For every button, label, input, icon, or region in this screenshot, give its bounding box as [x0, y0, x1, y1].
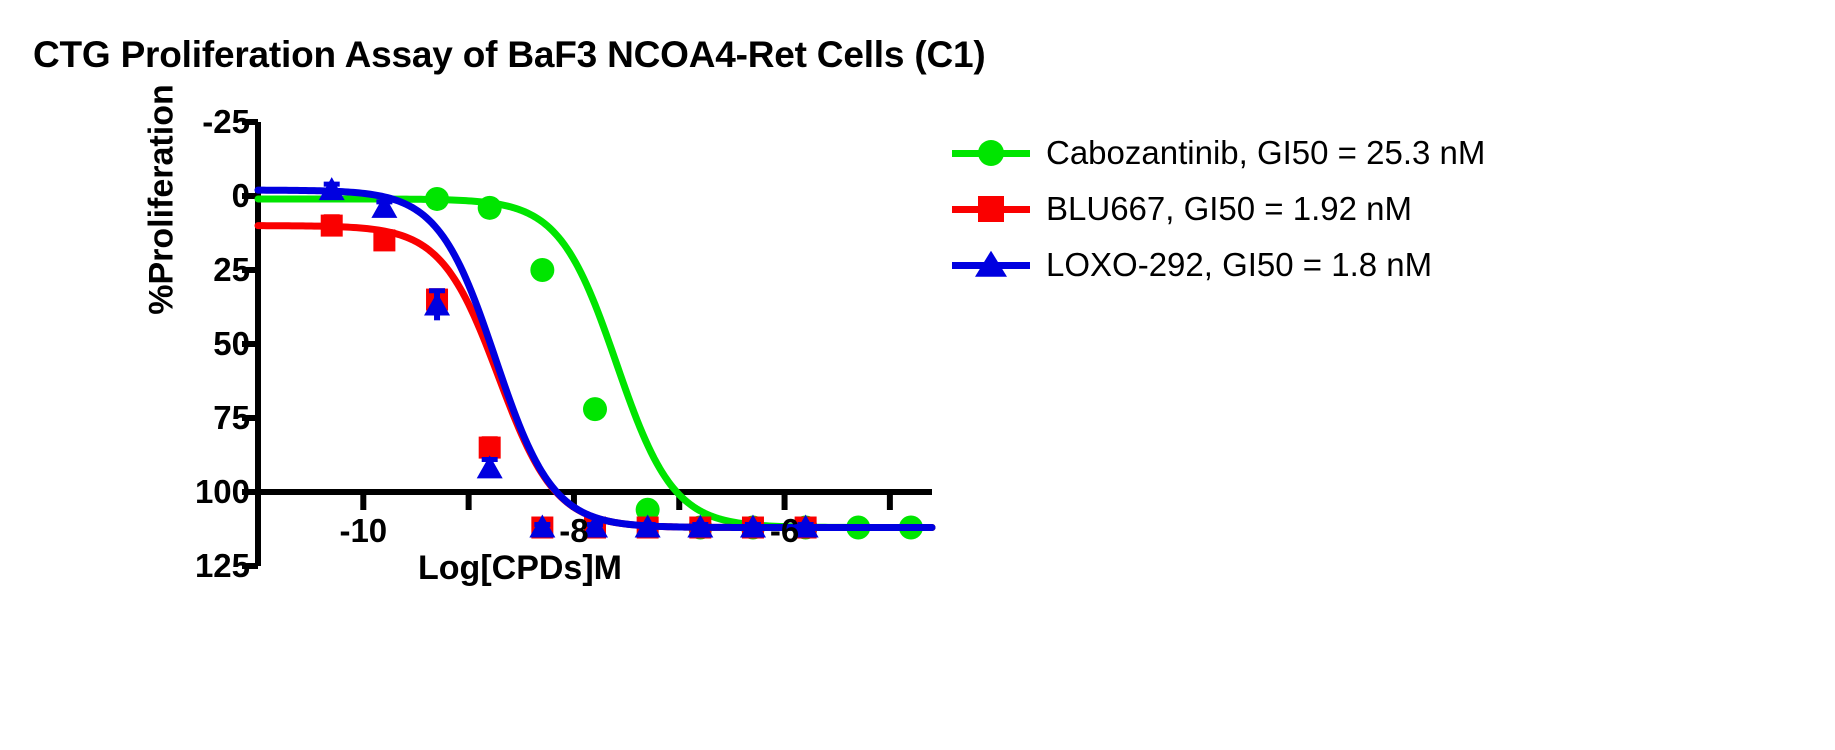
legend-label: BLU667, GI50 = 1.92 nM	[1030, 190, 1412, 228]
chart-legend: Cabozantinib, GI50 = 25.3 nMBLU667, GI50…	[952, 131, 1485, 287]
legend-key	[952, 248, 1030, 282]
legend-label: Cabozantinib, GI50 = 25.3 nM	[1030, 134, 1485, 172]
x-axis-label: Log[CPDs]M	[290, 549, 750, 588]
x-tick-label: -10	[313, 514, 413, 547]
legend-key	[952, 192, 1030, 226]
legend-item-3[interactable]: LOXO-292, GI50 = 1.8 nM	[952, 243, 1485, 287]
legend-marker-circle-icon	[978, 140, 1004, 166]
legend-marker-square-icon	[978, 196, 1004, 222]
x-tick-label: -8	[524, 514, 624, 547]
y-axis-label: %Proliferation	[143, 35, 182, 365]
legend-item-1[interactable]: Cabozantinib, GI50 = 25.3 nM	[952, 131, 1485, 175]
x-tick-label: -6	[735, 514, 835, 547]
legend-marker-triangle-icon	[975, 251, 1007, 277]
legend-item-2[interactable]: BLU667, GI50 = 1.92 nM	[952, 187, 1485, 231]
legend-key	[952, 136, 1030, 170]
legend-label: LOXO-292, GI50 = 1.8 nM	[1030, 246, 1432, 284]
